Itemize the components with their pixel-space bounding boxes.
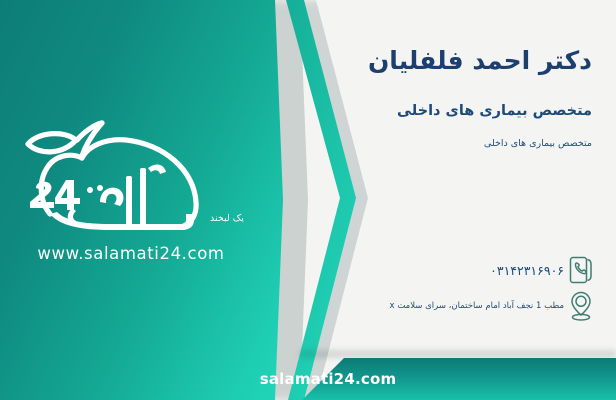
apple-logo-icon: به راحتی یک لبخند xyxy=(14,118,244,236)
specialty-primary: متخصص بیماری های داخلی xyxy=(397,103,592,119)
bottom-bar-shadow xyxy=(300,350,616,358)
doctor-name: دکتر احمد فلفلیان xyxy=(368,46,592,75)
footer-url[interactable]: salamati24.com xyxy=(0,358,616,400)
logo-url: www.salamati24.com xyxy=(18,244,244,263)
specialty-secondary: متخصص بیماری های داخلی xyxy=(484,138,592,149)
phone-row[interactable]: ۰۳۱۴۲۳۱۶۹۰۶ xyxy=(480,252,598,288)
logo-tagline: به راحتی یک لبخند xyxy=(210,213,244,224)
phone-book-icon xyxy=(564,252,598,288)
phone-number: ۰۳۱۴۲۳۱۶۹۰۶ xyxy=(490,263,564,278)
brand-logo: به راحتی یک لبخند www.salamati24.com xyxy=(14,118,244,273)
business-card: به راحتی یک لبخند www.salamati24.com دکت… xyxy=(0,0,616,400)
address-text: مطب 1 نجف آباد امام ساختمان، سرای سلامت … xyxy=(389,301,564,311)
map-pin-icon xyxy=(564,288,598,324)
address-row[interactable]: مطب 1 نجف آباد امام ساختمان، سرای سلامت … xyxy=(379,288,598,324)
